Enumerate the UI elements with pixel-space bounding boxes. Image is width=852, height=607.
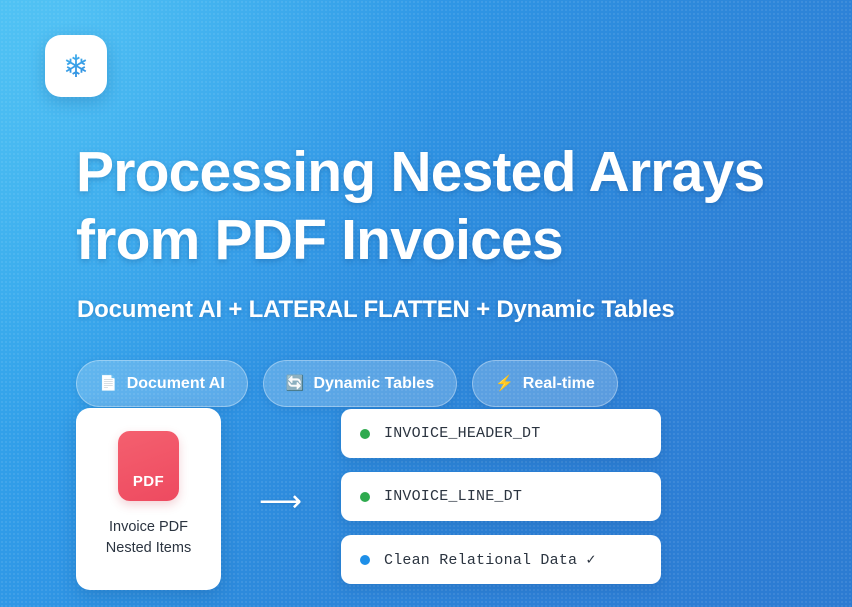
pill-dynamic-tables[interactable]: 🔄 Dynamic Tables [263, 360, 457, 407]
pill-document-ai[interactable]: 📄 Document AI [76, 360, 248, 407]
pill-dynamic-tables-label: Dynamic Tables [313, 375, 434, 393]
pdf-file-icon: PDF [118, 431, 179, 501]
page-title-line-1: Processing Nested Arrays [76, 139, 816, 207]
source-pdf-caption: Invoice PDF Nested Items [106, 517, 191, 558]
source-pdf-caption-line-1: Invoice PDF [106, 517, 191, 538]
pill-real-time[interactable]: ⚡ Real-time [472, 360, 618, 407]
lightning-bolt-icon: ⚡ [495, 376, 514, 391]
output-row-invoice-line-dt[interactable]: INVOICE_LINE_DT [341, 472, 661, 521]
source-pdf-card[interactable]: PDF Invoice PDF Nested Items [76, 408, 221, 590]
feature-pill-row: 📄 Document AI 🔄 Dynamic Tables ⚡ Real-ti… [76, 360, 618, 407]
snowflake-logo-tile: ❄ [45, 35, 107, 97]
page-title-line-2: from PDF Invoices [76, 207, 816, 275]
source-pdf-caption-line-2: Nested Items [106, 538, 191, 559]
output-row-label: Clean Relational Data ✓ [384, 550, 596, 569]
output-row-label: INVOICE_LINE_DT [384, 488, 522, 505]
status-dot [360, 429, 370, 439]
flow-arrow-icon: ⟶ [259, 487, 302, 517]
refresh-cycle-icon: 🔄 [286, 376, 305, 391]
page-title: Processing Nested Arrays from PDF Invoic… [76, 139, 816, 275]
output-row-clean-relational-data[interactable]: Clean Relational Data ✓ [341, 535, 661, 584]
slide-canvas: ❄ Processing Nested Arrays from PDF Invo… [0, 0, 852, 607]
output-row-invoice-header-dt[interactable]: INVOICE_HEADER_DT [341, 409, 661, 458]
page-subtitle: Document AI + LATERAL FLATTEN + Dynamic … [77, 296, 675, 324]
pill-real-time-label: Real-time [523, 375, 595, 393]
output-row-label: INVOICE_HEADER_DT [384, 425, 540, 442]
output-table-list: INVOICE_HEADER_DT INVOICE_LINE_DT Clean … [341, 409, 661, 584]
document-icon: 📄 [99, 376, 118, 391]
pdf-badge-label: PDF [133, 473, 164, 490]
status-dot [360, 492, 370, 502]
snowflake-icon: ❄ [63, 51, 89, 82]
pill-document-ai-label: Document AI [127, 375, 225, 393]
status-dot [360, 555, 370, 565]
